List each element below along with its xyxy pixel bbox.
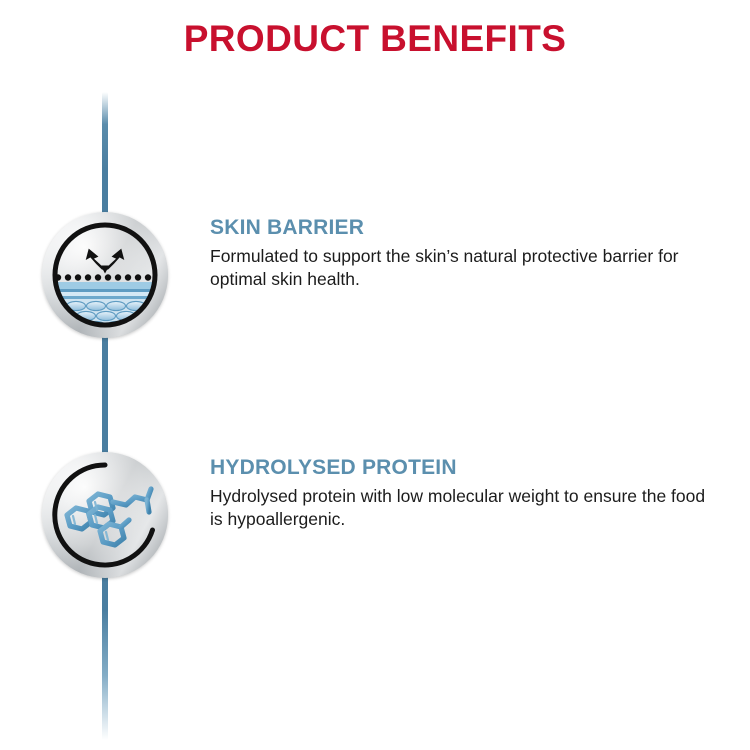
benefit-item-skin-barrier: SKIN BARRIER Formulated to support the s…	[0, 208, 750, 348]
benefit-body: Formulated to support the skin’s natural…	[210, 245, 720, 291]
benefit-text-block: SKIN BARRIER Formulated to support the s…	[210, 216, 730, 291]
benefit-body: Hydrolysed protein with low molecular we…	[210, 485, 720, 531]
skin-barrier-icon	[42, 212, 168, 338]
benefit-text-block: HYDROLYSED PROTEIN Hydrolysed protein wi…	[210, 456, 730, 531]
benefit-heading: HYDROLYSED PROTEIN	[210, 456, 730, 480]
benefit-item-hydrolysed-protein: HYDROLYSED PROTEIN Hydrolysed protein wi…	[0, 448, 750, 588]
page-title: PRODUCT BENEFITS	[0, 18, 750, 60]
hydrolysed-protein-icon	[42, 452, 168, 578]
benefit-heading: SKIN BARRIER	[210, 216, 730, 240]
vertical-connector-line	[102, 92, 108, 740]
product-benefits-page: PRODUCT BENEFITS	[0, 0, 750, 750]
